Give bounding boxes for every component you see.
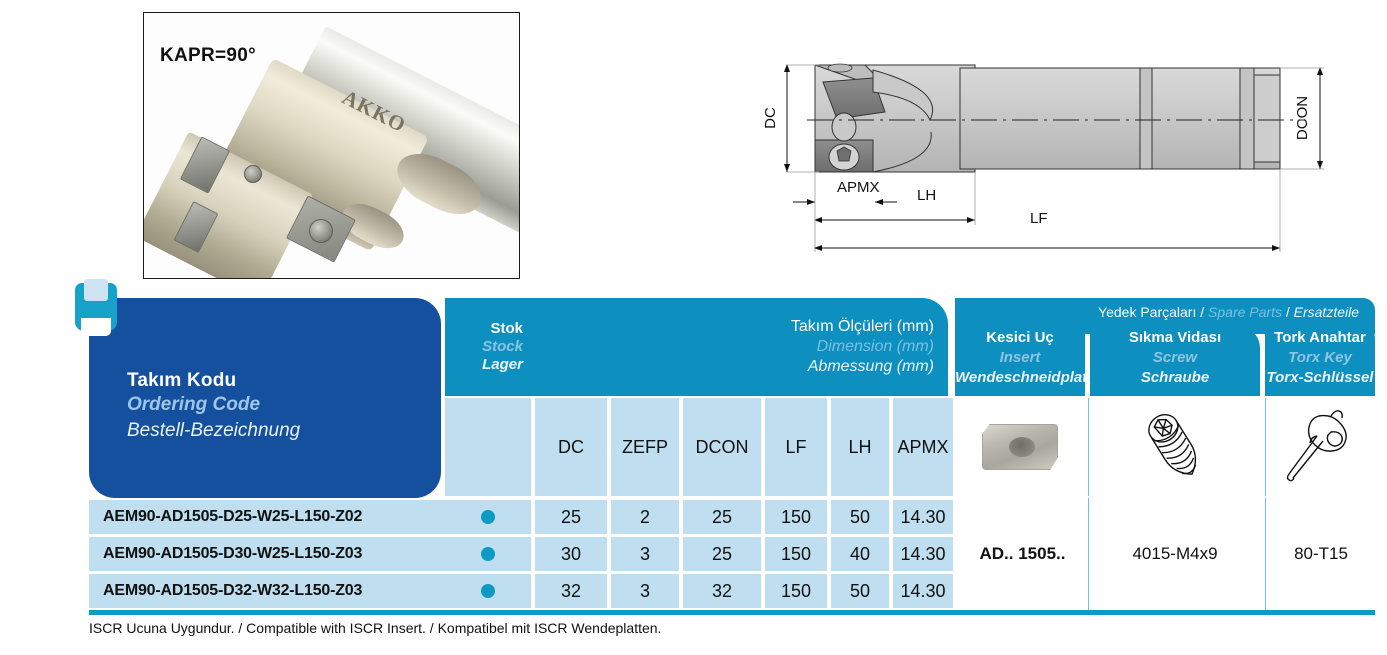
col-header-dc: DC (535, 398, 607, 496)
cell-lf: 150 (765, 574, 827, 608)
lh-label: LH (917, 187, 936, 204)
spare-sep-1: / (1196, 304, 1208, 320)
header-screw: Sıkma Vidası Screw Schraube (1090, 326, 1260, 396)
stock-indicator-cell (445, 537, 531, 571)
insert-photo-icon (982, 424, 1058, 470)
cell-lh: 50 (831, 574, 889, 608)
torx-key-icon (1273, 406, 1369, 488)
cell-dcon: 32 (683, 574, 761, 608)
stock-en: Stock (445, 338, 523, 355)
dimension-de: Abmessung (mm) (808, 358, 934, 376)
cell-lf: 150 (765, 537, 827, 571)
stock-subheader-cell (445, 398, 531, 496)
torx-en: Torx Key (1265, 348, 1375, 368)
cell-zefp: 2 (611, 500, 679, 534)
col-header-lf: LF (765, 398, 827, 496)
table-row[interactable]: AEM90-AD1505-D30-W25-L150-Z03 (89, 537, 455, 571)
insert-designation: AD.. 1505.. (957, 498, 1088, 610)
in-stock-dot-icon (481, 510, 495, 524)
cell-dcon: 25 (683, 500, 761, 534)
cell-lf: 150 (765, 500, 827, 534)
table-row[interactable]: AEM90-AD1505-D25-W25-L150-Z02 (89, 500, 455, 534)
table-bottom-rule (89, 610, 1375, 615)
product-photo: KAPR=90° AKKO (143, 12, 520, 279)
lf-label: LF (1030, 210, 1048, 227)
in-stock-dot-icon (481, 547, 495, 561)
col-header-apmx: APMX (893, 398, 953, 496)
cell-dcon: 25 (683, 537, 761, 571)
spare-parts-en: Spare Parts (1208, 304, 1282, 320)
col-header-lh: LH (831, 398, 889, 496)
tool-screw (244, 165, 262, 183)
stock-indicator-cell (445, 574, 531, 608)
cell-lh: 50 (831, 500, 889, 534)
screw-designation: 4015-M4x9 (1088, 498, 1261, 610)
dimension-en: Dimension (mm) (817, 338, 934, 356)
insert-de: Wendeschneidplatte (955, 368, 1085, 388)
specifications-table: Takım Kodu Ordering Code Bestell-Bezeich… (75, 288, 1375, 613)
spare-parts-tr: Yedek Parçaları (1098, 304, 1196, 320)
ordering-code-en: Ordering Code (127, 394, 260, 416)
cell-apmx: 14.30 (893, 574, 953, 608)
header-insert: Kesici Uç Insert Wendeschneidplatte (955, 298, 1085, 396)
stock-de: Lager (445, 356, 523, 373)
table-row[interactable]: AEM90-AD1505-D32-W32-L150-Z03 (89, 574, 455, 608)
screw-tr: Sıkma Vidası (1090, 328, 1260, 348)
torx-key-thumbnail (1265, 398, 1376, 496)
header-torx-key: Tork Anahtar Torx Key Torx-Schlüssel (1265, 326, 1375, 396)
cell-lh: 40 (831, 537, 889, 571)
cell-apmx: 14.30 (893, 500, 953, 534)
cell-zefp: 3 (611, 537, 679, 571)
dimension-tr: Takım Ölçüleri (mm) (791, 318, 934, 336)
spare-parts-de: Ersatzteile (1294, 304, 1359, 320)
in-stock-dot-icon (481, 584, 495, 598)
insert-en: Insert (955, 348, 1085, 368)
apmx-label: APMX (837, 179, 880, 196)
cell-apmx: 14.30 (893, 537, 953, 571)
screw-en: Screw (1090, 348, 1260, 368)
screw-thumbnail (1088, 398, 1261, 496)
bookmark-cut-decoration (81, 318, 111, 336)
tool-screw (309, 219, 333, 243)
torx-de: Torx-Schlüssel (1265, 368, 1375, 388)
compatibility-footnote: ISCR Ucuna Uygundur. / Compatible with I… (89, 620, 661, 636)
cell-dc: 32 (535, 574, 607, 608)
ordering-code-tr: Takım Kodu (127, 370, 236, 392)
torx-tr: Tork Anahtar (1265, 328, 1375, 348)
insert-tr: Kesici Uç (955, 328, 1085, 348)
dc-label: DC (762, 107, 779, 129)
torx-designation: 80-T15 (1265, 498, 1376, 610)
stock-indicator-cell (445, 500, 531, 534)
col-header-zefp: ZEFP (611, 398, 679, 496)
stock-tr: Stok (445, 320, 523, 337)
dcon-label: DCON (1294, 96, 1311, 140)
cell-dc: 25 (535, 500, 607, 534)
ordering-code-de: Bestell-Bezeichnung (127, 420, 300, 442)
header-dimension: Takım Ölçüleri (mm) Dimension (mm) Abmes… (473, 298, 948, 396)
kapr-angle-label: KAPR=90° (160, 45, 256, 67)
catalog-page: KAPR=90° AKKO (0, 0, 1387, 655)
screw-icon (1140, 407, 1210, 487)
insert-thumbnail (957, 398, 1083, 496)
col-header-dcon: DCON (683, 398, 761, 496)
cell-dc: 30 (535, 537, 607, 571)
spare-sep-2: / (1282, 304, 1294, 320)
header-ordering-code: Takım Kodu Ordering Code Bestell-Bezeich… (89, 298, 441, 498)
technical-drawing: DC DCON APMX LH LF (745, 20, 1385, 270)
header-stock: Stok Stock Lager (445, 298, 531, 396)
screw-de: Schraube (1090, 368, 1260, 388)
cell-zefp: 3 (611, 574, 679, 608)
